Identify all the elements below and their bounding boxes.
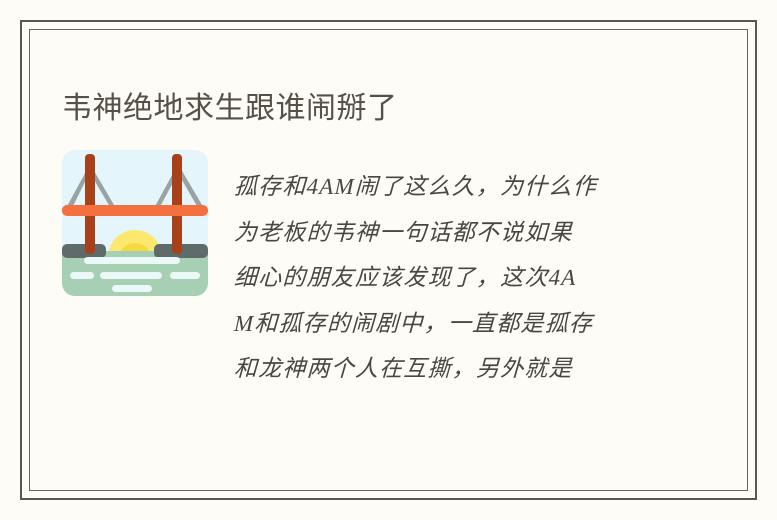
page-root: 韦神绝地求生跟谁闹掰了: [0, 0, 777, 520]
body-line: 细心的朋友应该发现了，这次4A: [233, 255, 660, 301]
page-title: 韦神绝地求生跟谁闹掰了: [62, 90, 398, 128]
body-line: 为老板的韦神一句话都不说如果: [233, 210, 660, 256]
article-body: 孤存和4AM闹了这么久，为什么作 为老板的韦神一句话都不说如果 细心的朋友应该发…: [234, 164, 659, 392]
body-line: M和孤存的闹剧中，一直都是孤存: [233, 301, 660, 347]
body-line: 和龙神两个人在互撕，另外就是: [233, 346, 660, 392]
article-container: 韦神绝地求生跟谁闹掰了: [29, 29, 748, 491]
bridge-sunset-icon: [62, 150, 208, 296]
article-thumbnail: [62, 150, 208, 296]
body-line: 孤存和4AM闹了这么久，为什么作: [233, 164, 660, 210]
